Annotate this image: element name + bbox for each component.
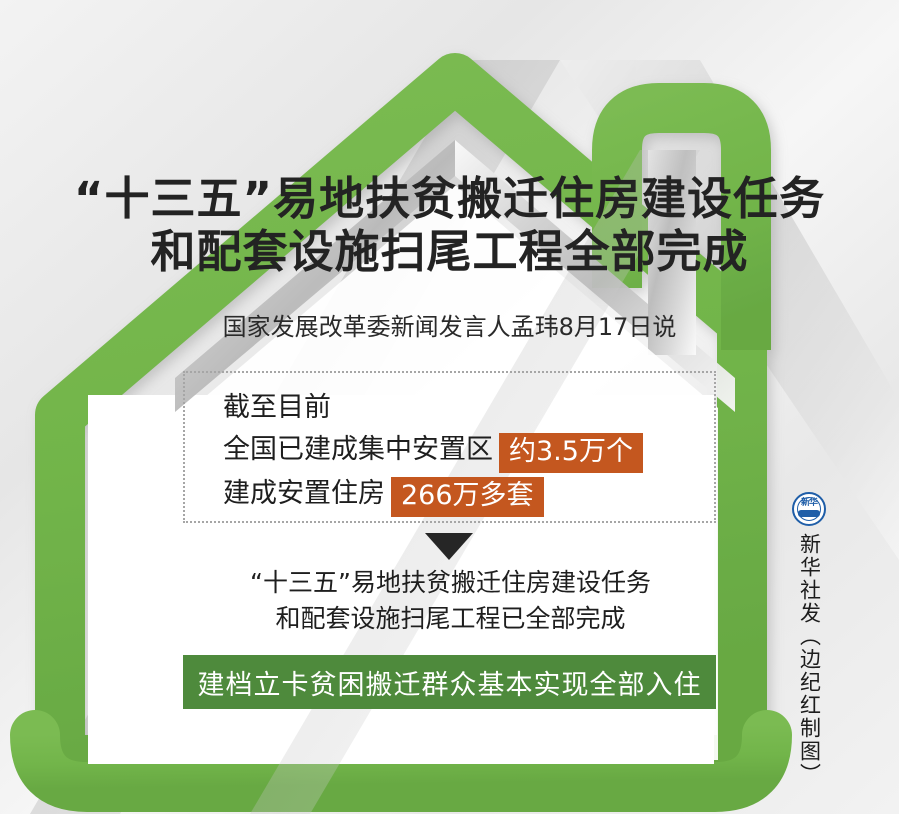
infographic-poster: “十三五”易地扶贫搬迁住房建设任务 和配套设施扫尾工程全部完成 国家发展改革委新… (0, 0, 899, 814)
credit-text: 新华社发（边纪红制图） (797, 533, 822, 786)
highlight-banner: 建档立卡贫困搬迁群众基本实现全部入住 (183, 655, 716, 709)
conclusion-block: “十三五”易地扶贫搬迁住房建设任务 和配套设施扫尾工程已全部完成 (183, 565, 718, 637)
stats-intro-text: 截至目前 (223, 387, 714, 429)
stat-value-1: 约3.5万个 (499, 433, 643, 473)
stat-label-1: 全国已建成集中安置区 (223, 434, 493, 465)
logo-band (798, 510, 820, 517)
credit-column: 新华 新华社发（边纪红制图） (783, 492, 835, 786)
stat-row-2: 建成安置住房266万多套 (223, 473, 714, 517)
xinhua-logo-icon: 新华 (792, 492, 826, 526)
title-line-2: 和配套设施扫尾工程全部完成 (0, 225, 899, 278)
stat-row-1: 全国已建成集中安置区约3.5万个 (223, 429, 714, 473)
poster-subtitle: 国家发展改革委新闻发言人孟玮8月17日说 (0, 312, 899, 342)
conclusion-line-2: 和配套设施扫尾工程已全部完成 (183, 601, 718, 637)
logo-glyph: 新华 (794, 499, 824, 508)
poster-title: “十三五”易地扶贫搬迁住房建设任务 和配套设施扫尾工程全部完成 (0, 172, 899, 278)
stat-value-2: 266万多套 (391, 477, 544, 517)
highlight-banner-text: 建档立卡贫困搬迁群众基本实现全部入住 (198, 663, 702, 702)
statistics-panel: 截至目前 全国已建成集中安置区约3.5万个 建成安置住房266万多套 (183, 371, 716, 523)
conclusion-line-1: “十三五”易地扶贫搬迁住房建设任务 (183, 565, 718, 601)
title-line-1: “十三五”易地扶贫搬迁住房建设任务 (0, 172, 899, 225)
stat-label-2: 建成安置住房 (223, 478, 385, 509)
arrow-down-icon (425, 533, 473, 560)
